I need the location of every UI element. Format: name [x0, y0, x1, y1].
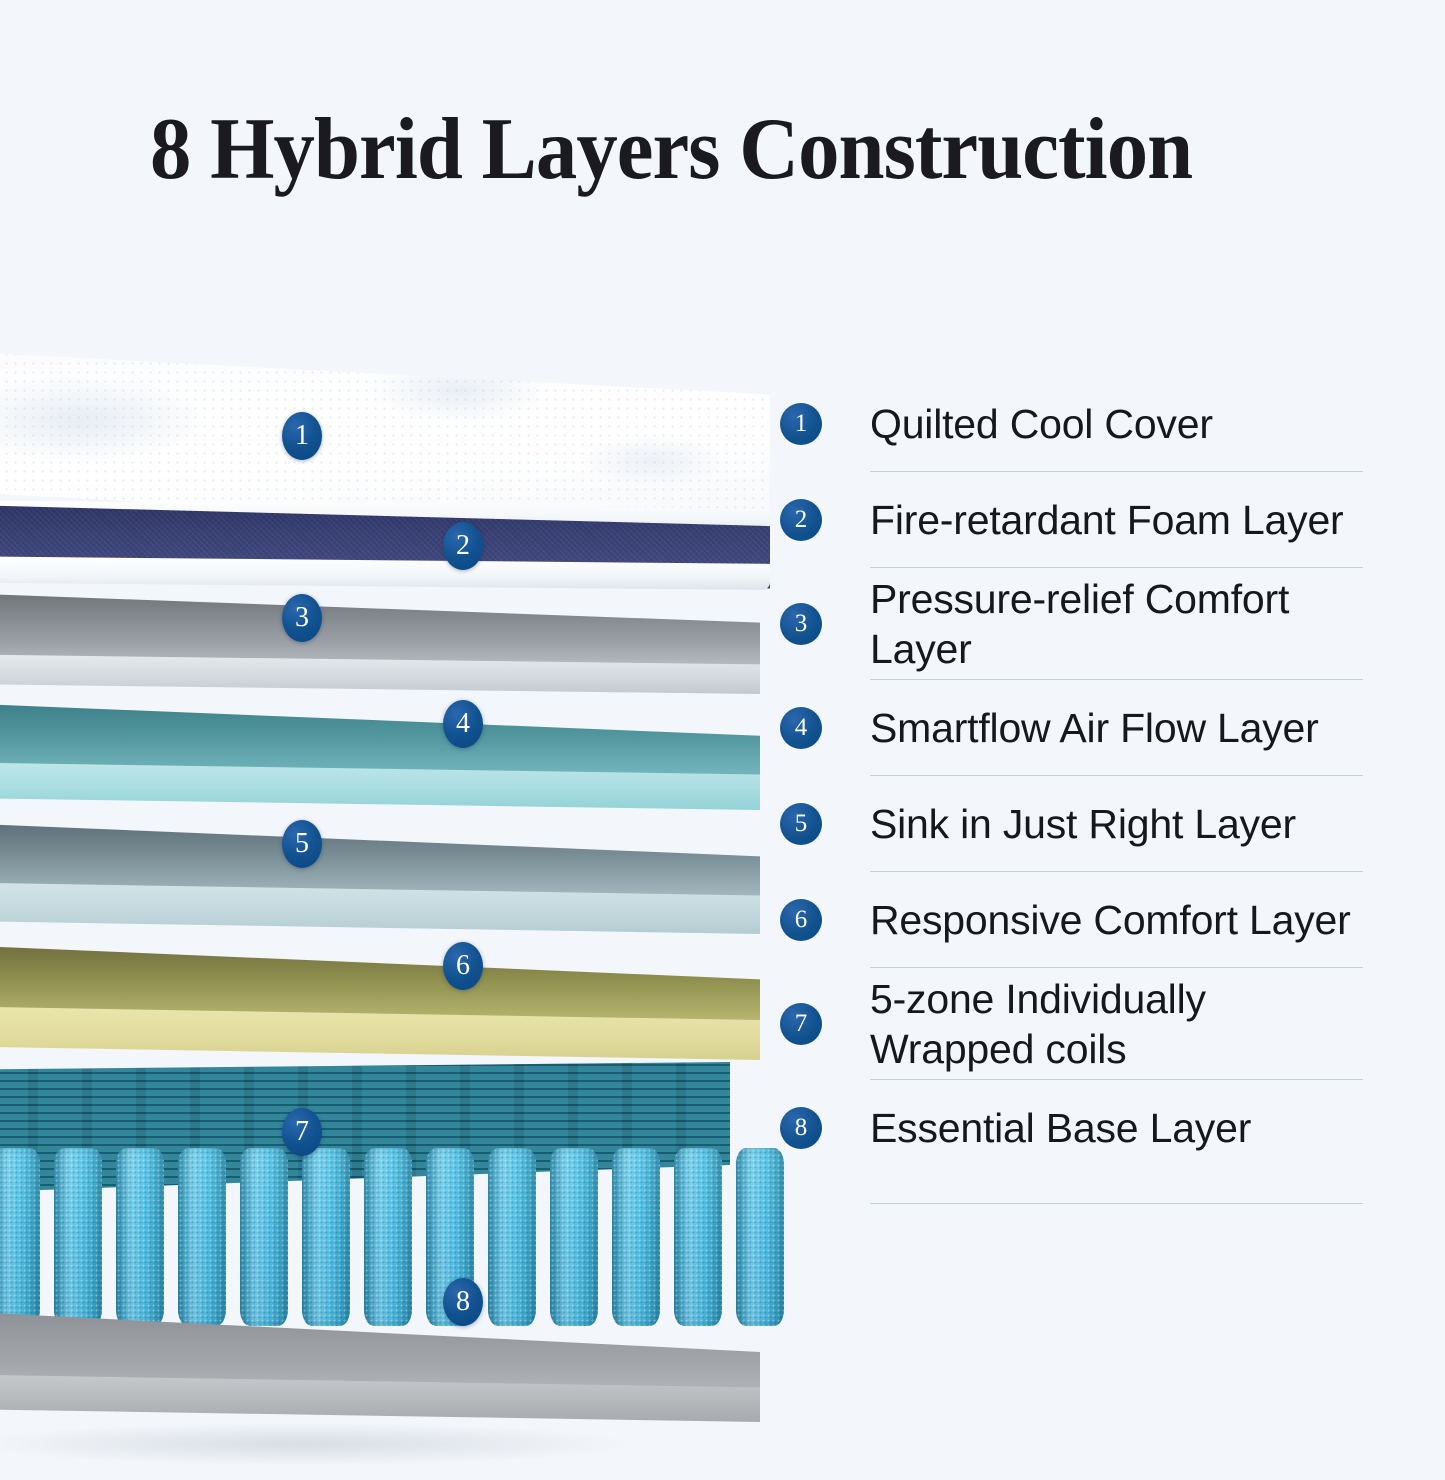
legend-label-1: Quilted Cool Cover [870, 399, 1213, 449]
layer-pocket-coils [0, 1062, 730, 1342]
pocket-coil [612, 1148, 660, 1326]
pocket-coil [488, 1148, 536, 1326]
legend-item-8[interactable]: 8 Essential Base Layer [780, 1080, 1380, 1176]
mattress-cutaway-illustration: 1 2 3 4 5 6 7 8 [0, 340, 760, 1420]
pocket-coil [302, 1148, 350, 1326]
ground-shadow [0, 1420, 720, 1480]
legend-badge-1: 1 [780, 403, 822, 445]
legend-item-6[interactable]: 6 Responsive Comfort Layer [780, 872, 1380, 968]
legend-label-5: Sink in Just Right Layer [870, 799, 1296, 849]
layer-smartflow-air-flow [0, 702, 760, 832]
callout-badge-2: 2 [443, 522, 483, 570]
pocket-coil [364, 1148, 412, 1326]
pocket-coil [178, 1148, 226, 1326]
callout-badge-6: 6 [443, 942, 483, 990]
callout-badge-3: 3 [282, 594, 322, 642]
mattress-layers-infographic: { "title": "8 Hybrid Layers Construction… [0, 0, 1445, 1445]
legend-badge-2: 2 [780, 499, 822, 541]
legend-label-2: Fire-retardant Foam Layer [870, 495, 1344, 545]
layer-responsive-comfort [0, 944, 760, 1080]
legend-badge-3: 3 [780, 603, 822, 645]
pocket-coil [54, 1148, 102, 1326]
callout-badge-8: 8 [443, 1278, 483, 1326]
legend-badge-8: 8 [780, 1107, 822, 1149]
legend-item-1[interactable]: 1 Quilted Cool Cover [780, 376, 1380, 472]
callout-badge-1: 1 [282, 412, 322, 460]
layer-sink-in-just-right [0, 822, 760, 954]
callout-badge-5: 5 [282, 820, 322, 868]
legend-item-2[interactable]: 2 Fire-retardant Foam Layer [780, 472, 1380, 568]
legend-badge-5: 5 [780, 803, 822, 845]
pocket-coil [550, 1148, 598, 1326]
layer-pressure-relief-comfort [0, 592, 760, 710]
legend-item-7[interactable]: 7 5-zone Individually Wrapped coils [780, 968, 1380, 1080]
pocket-coil [674, 1148, 722, 1326]
legend-item-3[interactable]: 3 Pressure-relief Comfort Layer [780, 568, 1380, 680]
pocket-coil [240, 1148, 288, 1326]
pocket-coil [116, 1148, 164, 1326]
legend-badge-6: 6 [780, 899, 822, 941]
legend-label-4: Smartflow Air Flow Layer [870, 703, 1319, 753]
legend-badge-4: 4 [780, 707, 822, 749]
callout-badge-7: 7 [282, 1108, 322, 1156]
legend-label-6: Responsive Comfort Layer [870, 895, 1351, 945]
page-title: 8 Hybrid Layers Construction [150, 106, 1240, 194]
legend-label-8: Essential Base Layer [870, 1103, 1251, 1153]
pocket-coil [736, 1148, 784, 1326]
legend-item-5[interactable]: 5 Sink in Just Right Layer [780, 776, 1380, 872]
callout-badge-4: 4 [443, 700, 483, 748]
legend-label-7: 5-zone Individually Wrapped coils [870, 974, 1270, 1074]
layer-fire-retardant-foam [0, 504, 770, 600]
legend-divider [870, 1203, 1363, 1204]
legend-label-3: Pressure-relief Comfort Layer [870, 574, 1340, 674]
pocket-coil [0, 1148, 40, 1326]
layer-legend-list: 1 Quilted Cool Cover 2 Fire-retardant Fo… [780, 376, 1380, 1176]
legend-badge-7: 7 [780, 1003, 822, 1045]
legend-item-4[interactable]: 4 Smartflow Air Flow Layer [780, 680, 1380, 776]
